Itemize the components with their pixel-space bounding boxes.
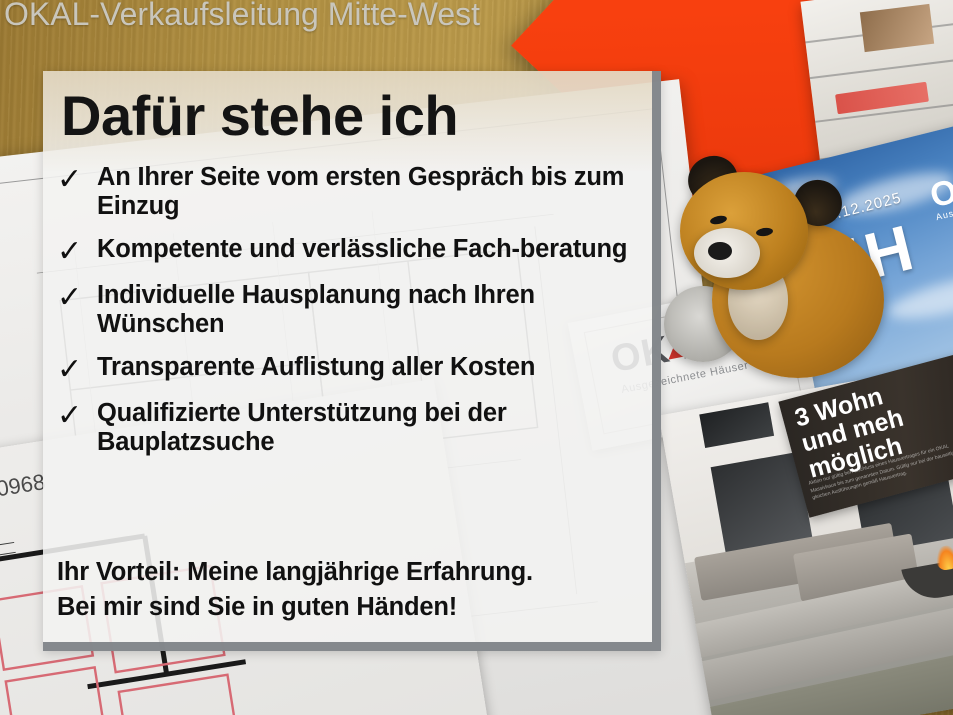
fox-plush-toy	[672, 150, 887, 380]
closing-line-2: Bei mir sind Sie in guten Händen!	[57, 590, 640, 624]
content-panel: Dafür stehe ich ✓ An Ihrer Seite vom ers…	[43, 71, 661, 651]
page-title: OKAL-Verkaufsleitung Mitte-West	[4, 0, 480, 33]
list-item: ✓ An Ihrer Seite vom ersten Gespräch bis…	[57, 163, 642, 221]
checkmark-icon: ✓	[57, 281, 97, 313]
checkmark-icon: ✓	[57, 235, 97, 267]
list-item-label: Individuelle Hausplanung nach Ihren Wüns…	[97, 281, 642, 339]
benefits-list: ✓ An Ihrer Seite vom ersten Gespräch bis…	[57, 163, 642, 471]
closing-line-1: Ihr Vorteil: Meine langjährige Erfahrung…	[57, 555, 640, 589]
slide-canvas: 15.03. – 31.12.2025 MEH OK Ausgezeich	[0, 0, 953, 715]
list-item: ✓ Kompetente und verlässliche Fach-berat…	[57, 235, 642, 267]
list-item: ✓ Transparente Auflistung aller Kosten	[57, 353, 642, 385]
list-item-label: Qualifizierte Unterstützung bei der Baup…	[97, 399, 642, 457]
checkmark-icon: ✓	[57, 399, 97, 431]
closing-statement: Ihr Vorteil: Meine langjährige Erfahrung…	[57, 555, 640, 624]
list-item-label: Kompetente und verlässliche Fach-beratun…	[97, 235, 627, 264]
list-item-label: Transparente Auflistung aller Kosten	[97, 353, 535, 382]
panel-headline: Dafür stehe ich	[61, 83, 458, 148]
brochure-photo	[860, 4, 934, 52]
blueprint-drawing-number: 1368-3000968	[0, 469, 47, 516]
list-item-label: An Ihrer Seite vom ersten Gespräch bis z…	[97, 163, 642, 221]
list-item: ✓ Individuelle Hausplanung nach Ihren Wü…	[57, 281, 642, 339]
list-item: ✓ Qualifizierte Unterstützung bei der Ba…	[57, 399, 642, 457]
checkmark-icon: ✓	[57, 163, 97, 195]
checkmark-icon: ✓	[57, 353, 97, 385]
fox-nose	[708, 242, 732, 260]
